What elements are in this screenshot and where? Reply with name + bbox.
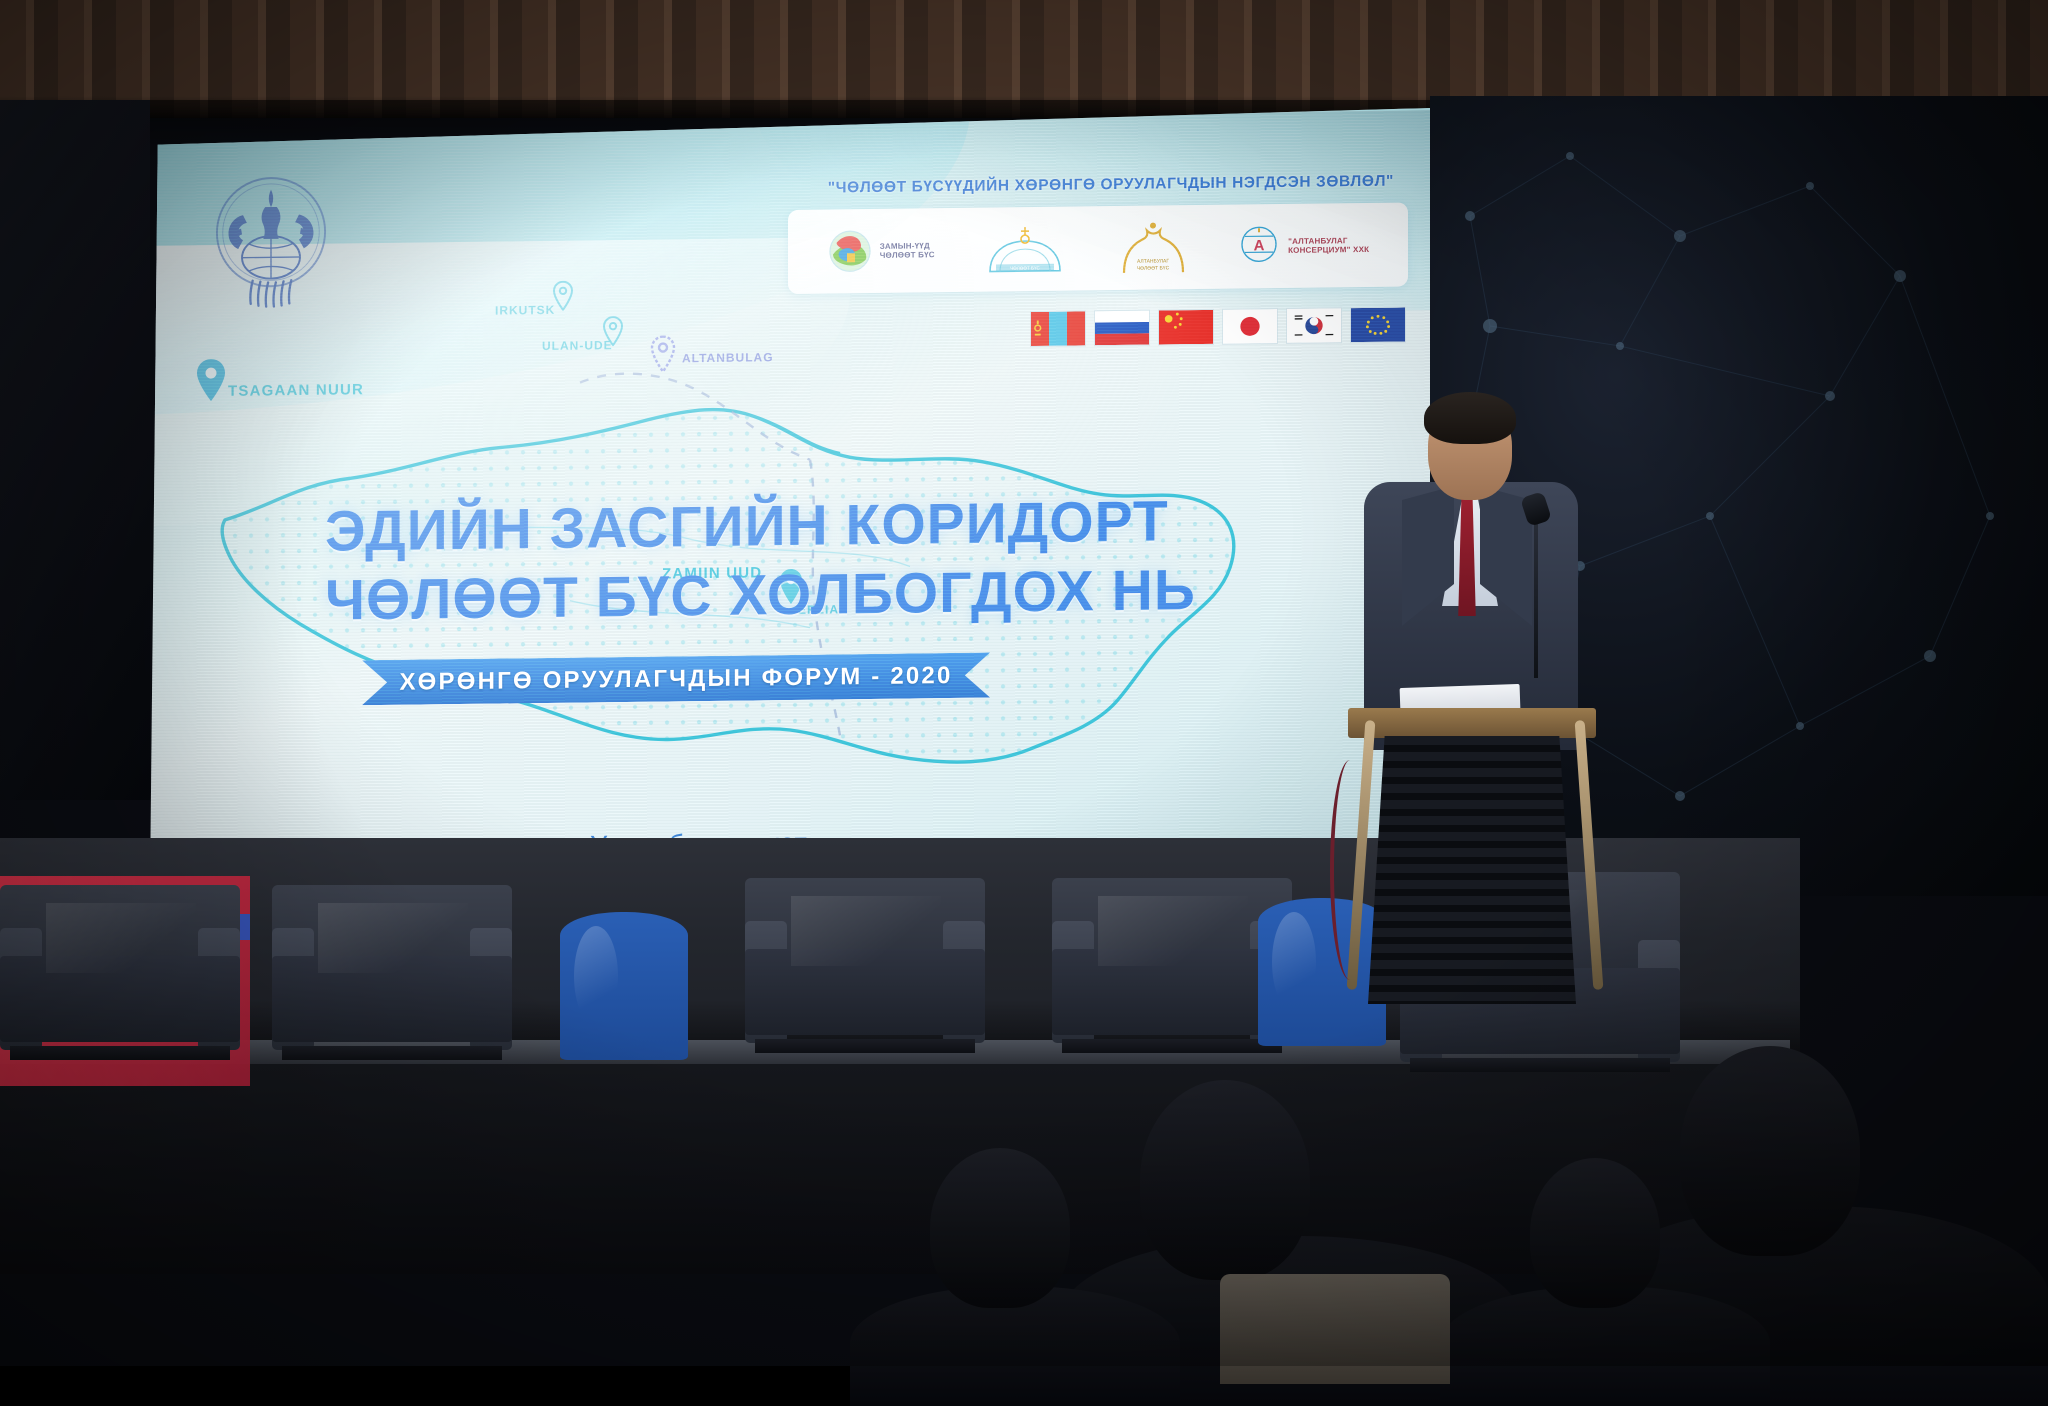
slide-title-block: ЭДИЙН ЗАСГИЙН КОРИДОРТ ЧӨЛӨӨТ БҮС ХОЛБОГ… (325, 492, 1275, 630)
podium-rail-right (1575, 720, 1604, 990)
back-wall-left (0, 100, 150, 800)
audience-head (1680, 1046, 1860, 1256)
microphone-stand (1534, 508, 1538, 678)
stage-sofa (745, 878, 985, 1053)
forum-ribbon-banner: ХӨРӨНГӨ ОРУУЛАГЧДЫН ФОРУМ - 2020 (362, 653, 990, 706)
map-pin-tsagaan-nuur: TSAGAAN NUUR (228, 381, 364, 400)
svg-text:A: A (1254, 237, 1265, 254)
presentation-slide: "ЧӨЛӨӨТ БҮСҮҮДИЙН ХӨРӨНГӨ ОРУУЛАГЧДЫН НЭ… (150, 110, 1430, 886)
slide-title-line1: ЭДИЙН ЗАСГИЙН КОРИДОРТ (325, 492, 1275, 561)
logo-line-2: ЧӨЛӨӨТ БҮС (880, 250, 935, 260)
stage-sofa (0, 885, 240, 1060)
map-pin-tsagaan-nuur-icon (194, 357, 228, 408)
consortium-logo-text: "АЛТАНБУЛАГ КОНСЕРЦИУМ" ХХК (1288, 235, 1369, 255)
logo-line-2: КОНСЕРЦИУМ" ХХК (1288, 245, 1369, 255)
map-pin-ulan-ude: ULAN-UDE (542, 338, 613, 353)
audience-head (1140, 1080, 1310, 1280)
conference-hall-scene: "ЧӨЛӨӨТ БҮСҮҮДИЙН ХӨРӨНГӨ ОРУУЛАГЧДЫН НЭ… (0, 0, 2048, 1366)
zamiin-uud-logo-text: ЗАМЫН-ҮҮД ЧӨЛӨӨТ БҮС (880, 241, 935, 261)
stage-sofa (272, 885, 512, 1060)
podium-top (1348, 708, 1596, 738)
map-pin-altanbulag: ALTANBULAG (682, 350, 774, 365)
council-header-text: "ЧӨЛӨӨТ БҮСҮҮДИЙН ХӨРӨНГӨ ОРУУЛАГЧДЫН НЭ… (828, 173, 1394, 198)
podium-body (1368, 736, 1576, 1004)
audience-foreground (0, 1036, 2048, 1366)
map-pin-irkutsk: IRKUTSK (495, 303, 555, 318)
audience-head (1530, 1158, 1660, 1308)
podium-cable (1330, 760, 1370, 980)
forum-ribbon-text: ХӨРӨНГӨ ОРУУЛАГЧДЫН ФОРУМ - 2020 (399, 662, 952, 697)
slide-title-line2: ЧӨЛӨӨТ БҮС ХОЛБОГДОХ НЬ (325, 561, 1275, 630)
podium-and-speaker (1338, 390, 1668, 950)
projection-screen: "ЧӨЛӨӨТ БҮСҮҮДИЙН ХӨРӨНГӨ ОРУУЛАГЧДЫН НЭ… (150, 108, 1430, 888)
audience-chair (1220, 1274, 1450, 1384)
stage-sofa (1052, 878, 1292, 1053)
audience-head (930, 1148, 1070, 1308)
map-pin-altanbulag-icon (650, 335, 676, 378)
